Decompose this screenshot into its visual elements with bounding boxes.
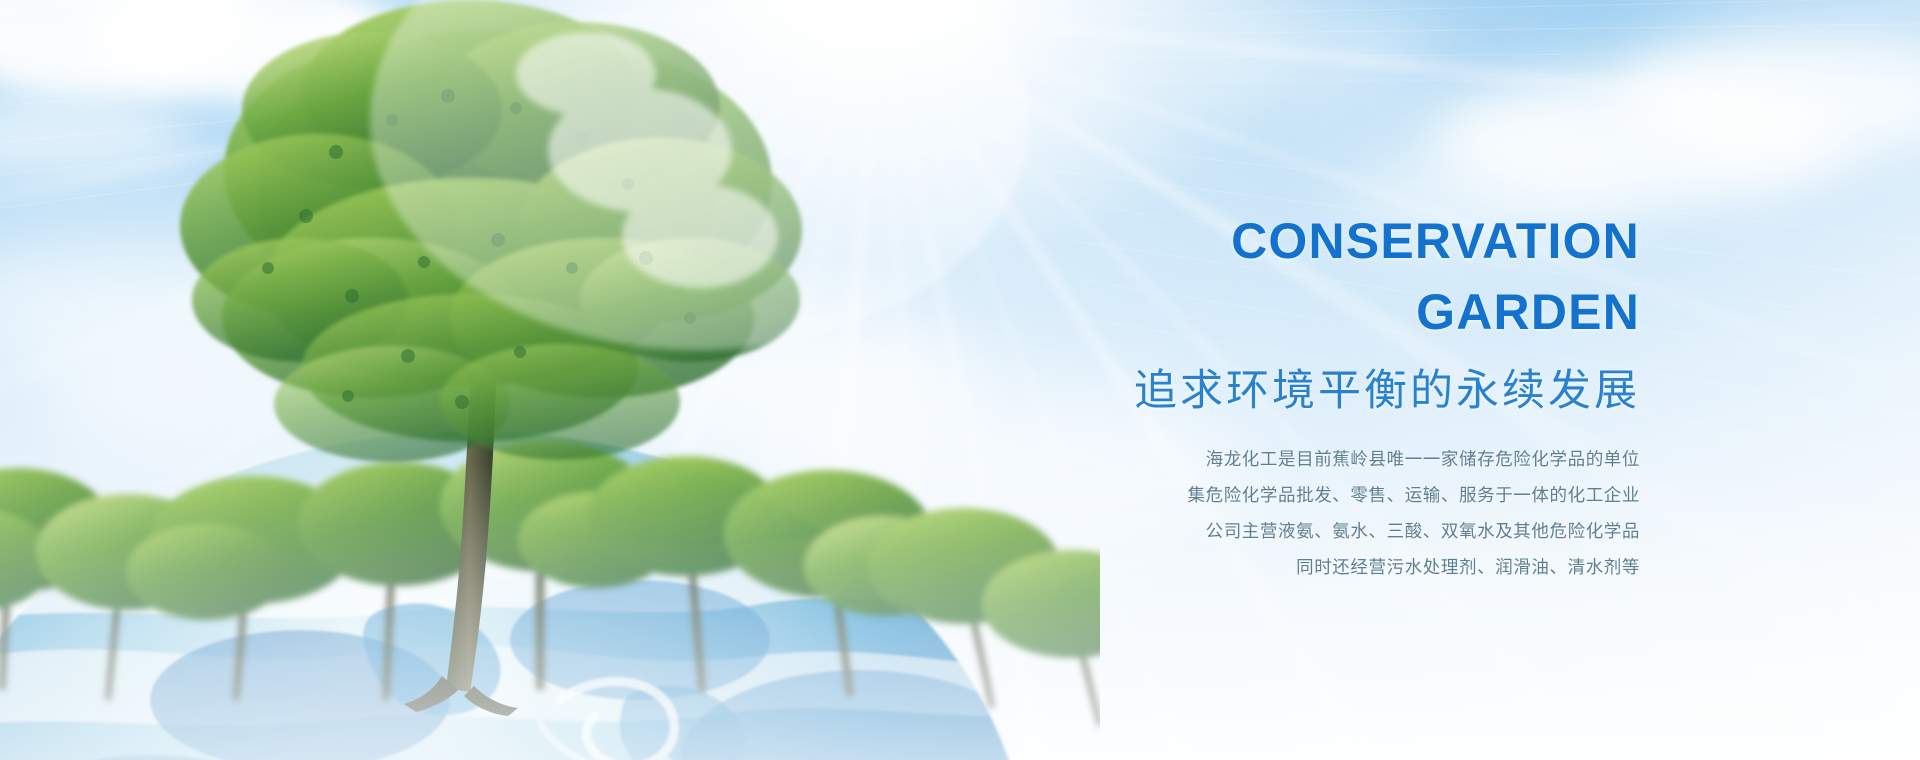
- tagline: 追求环境平衡的永续发展: [880, 362, 1640, 420]
- cloud-shape: [0, 0, 260, 100]
- page-title: CONSERVATION GARDEN: [880, 206, 1640, 348]
- cloud-shape: [0, 90, 200, 180]
- hero-banner: CONSERVATION GARDEN 追求环境平衡的永续发展 海龙化工是目前蕉…: [0, 0, 1920, 760]
- headline-line-2: GARDEN: [880, 277, 1640, 348]
- description-block: 海龙化工是目前蕉岭县唯一一家储存危险化学品的单位 集危险化学品批发、零售、运输、…: [880, 442, 1640, 586]
- cloud-shape: [230, 10, 490, 120]
- headline-line-1: CONSERVATION: [1231, 213, 1640, 269]
- large-tree: [180, 0, 802, 716]
- description-line: 公司主营液氨、氨水、三酸、双氧水及其他危险化学品: [880, 514, 1640, 550]
- description-line: 同时还经营污水处理剂、润滑油、清水剂等: [880, 550, 1640, 586]
- cloud-shape: [1180, 10, 1440, 100]
- cloud-shape: [40, 330, 400, 470]
- cloud-shape: [90, 0, 390, 100]
- cloud-shape: [0, 230, 360, 380]
- banner-copy: CONSERVATION GARDEN 追求环境平衡的永续发展 海龙化工是目前蕉…: [880, 206, 1640, 586]
- cloud-shape: [1430, 70, 1850, 210]
- cloud-shape: [1620, 30, 1920, 160]
- description-line: 集危险化学品批发、零售、运输、服务于一体的化工企业: [880, 478, 1640, 514]
- description-line: 海龙化工是目前蕉岭县唯一一家储存危险化学品的单位: [880, 442, 1640, 478]
